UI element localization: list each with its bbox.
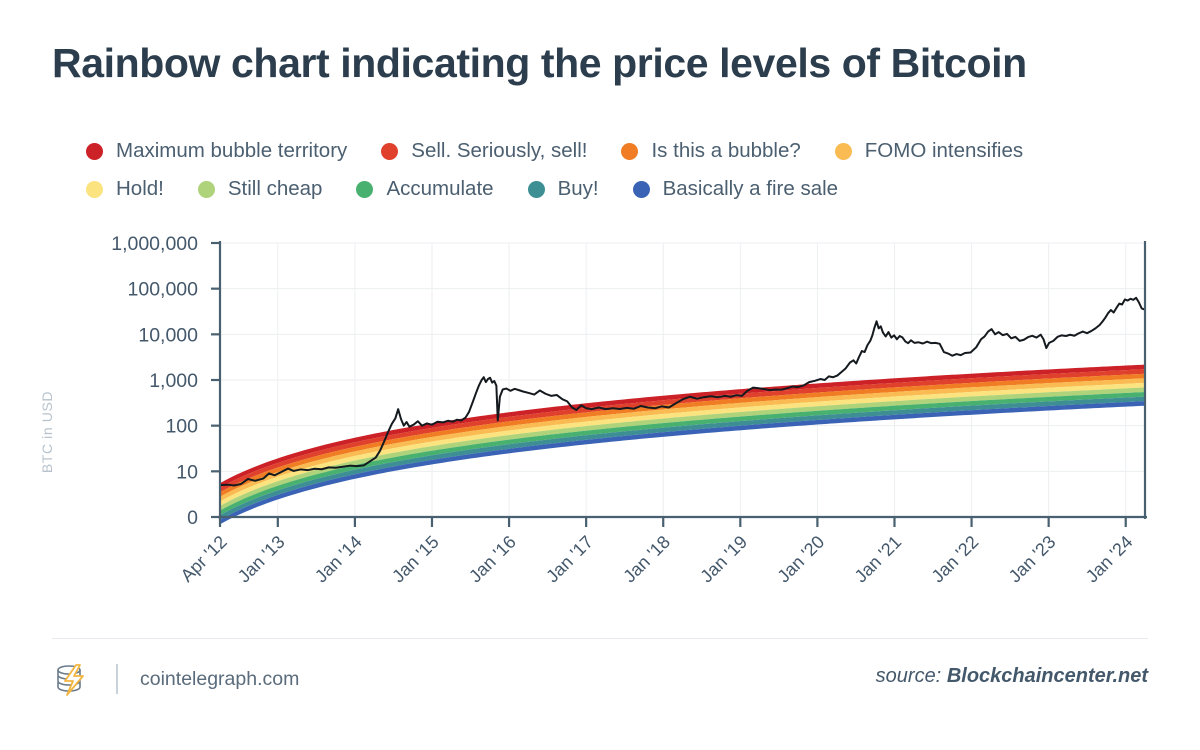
legend-item-label: Maximum bubble territory — [116, 139, 347, 163]
rainbow-bands — [220, 365, 1145, 525]
legend-item-label: Still cheap — [228, 177, 323, 201]
legend-item[interactable]: Sell. Seriously, sell! — [381, 139, 587, 163]
legend-item-label: Basically a fire sale — [663, 177, 838, 201]
rainbow-chart: BTC in USD 1,000,000100,00010,0001,00010… — [0, 212, 1200, 632]
y-tick-label: 0 — [187, 507, 198, 529]
x-axis-ticks: Apr '12Jan '13Jan '14Jan '15Jan '16Jan '… — [177, 517, 1137, 586]
legend-color-dot-icon — [381, 143, 398, 160]
legend-item[interactable]: Basically a fire sale — [633, 177, 838, 201]
y-tick-label: 1,000,000 — [111, 233, 198, 255]
x-tick-label: Jan '21 — [851, 532, 906, 587]
legend-item[interactable]: Is this a bubble? — [621, 139, 800, 163]
y-tick-label: 100 — [165, 416, 198, 438]
legend-item[interactable]: Still cheap — [198, 177, 323, 201]
footer-divider — [52, 638, 1148, 639]
x-tick-label: Jan '15 — [388, 532, 443, 587]
chart-legend: Maximum bubble territorySell. Seriously,… — [86, 132, 1146, 208]
legend-item-label: Sell. Seriously, sell! — [411, 139, 587, 163]
legend-color-dot-icon — [198, 181, 215, 198]
brand-url: cointelegraph.com — [140, 668, 299, 691]
legend-color-dot-icon — [86, 181, 103, 198]
legend-color-dot-icon — [86, 143, 103, 160]
y-axis-title: BTC in USD — [39, 391, 55, 473]
legend-color-dot-icon — [528, 181, 545, 198]
legend-color-dot-icon — [835, 143, 852, 160]
legend-row-2: Hold!Still cheapAccumulateBuy!Basically … — [86, 170, 1146, 208]
y-tick-label: 10,000 — [138, 324, 198, 346]
legend-color-dot-icon — [621, 143, 638, 160]
source-name: Blockchaincenter.net — [947, 665, 1148, 687]
x-tick-label: Jan '20 — [773, 532, 828, 587]
brand-block: cointelegraph.com — [52, 659, 299, 699]
chart-svg: BTC in USD 1,000,000100,00010,0001,00010… — [0, 212, 1200, 632]
x-tick-label: Jan '22 — [928, 532, 983, 587]
x-tick-label: Jan '24 — [1082, 532, 1137, 587]
y-axis-ticks: 1,000,000100,00010,0001,000100100 — [111, 233, 220, 529]
x-tick-label: Jan '16 — [465, 532, 520, 587]
cointelegraph-logo-icon — [52, 659, 92, 699]
x-tick-label: Jan '18 — [619, 532, 674, 587]
legend-item[interactable]: Hold! — [86, 177, 164, 201]
source-prefix: source: — [876, 665, 942, 687]
y-tick-label: 1,000 — [149, 370, 198, 392]
y-tick-label: 100,000 — [128, 279, 199, 301]
footer: cointelegraph.com source: Blockchaincent… — [52, 655, 1148, 715]
infographic-page: Rainbow chart indicating the price level… — [0, 0, 1200, 750]
legend-item[interactable]: Accumulate — [356, 177, 493, 201]
x-tick-label: Jan '14 — [311, 532, 366, 587]
x-tick-label: Jan '13 — [234, 532, 289, 587]
legend-row-1: Maximum bubble territorySell. Seriously,… — [86, 132, 1146, 170]
legend-item-label: FOMO intensifies — [865, 139, 1023, 163]
source-attribution: source: Blockchaincenter.net — [876, 665, 1148, 688]
legend-item-label: Hold! — [116, 177, 164, 201]
legend-item[interactable]: Maximum bubble territory — [86, 139, 347, 163]
y-tick-label: 10 — [176, 461, 198, 483]
legend-color-dot-icon — [356, 181, 373, 198]
legend-color-dot-icon — [633, 181, 650, 198]
x-tick-label: Apr '12 — [177, 532, 231, 586]
x-tick-label: Jan '23 — [1005, 532, 1060, 587]
brand-divider — [116, 664, 118, 694]
x-tick-label: Jan '19 — [696, 532, 751, 587]
legend-item[interactable]: FOMO intensifies — [835, 139, 1023, 163]
legend-item-label: Is this a bubble? — [651, 139, 800, 163]
y-axis-title-group: BTC in USD — [39, 391, 55, 473]
legend-item[interactable]: Buy! — [528, 177, 599, 201]
legend-item-label: Buy! — [558, 177, 599, 201]
page-title: Rainbow chart indicating the price level… — [52, 40, 1027, 87]
x-tick-label: Jan '17 — [542, 532, 597, 587]
legend-item-label: Accumulate — [386, 177, 493, 201]
